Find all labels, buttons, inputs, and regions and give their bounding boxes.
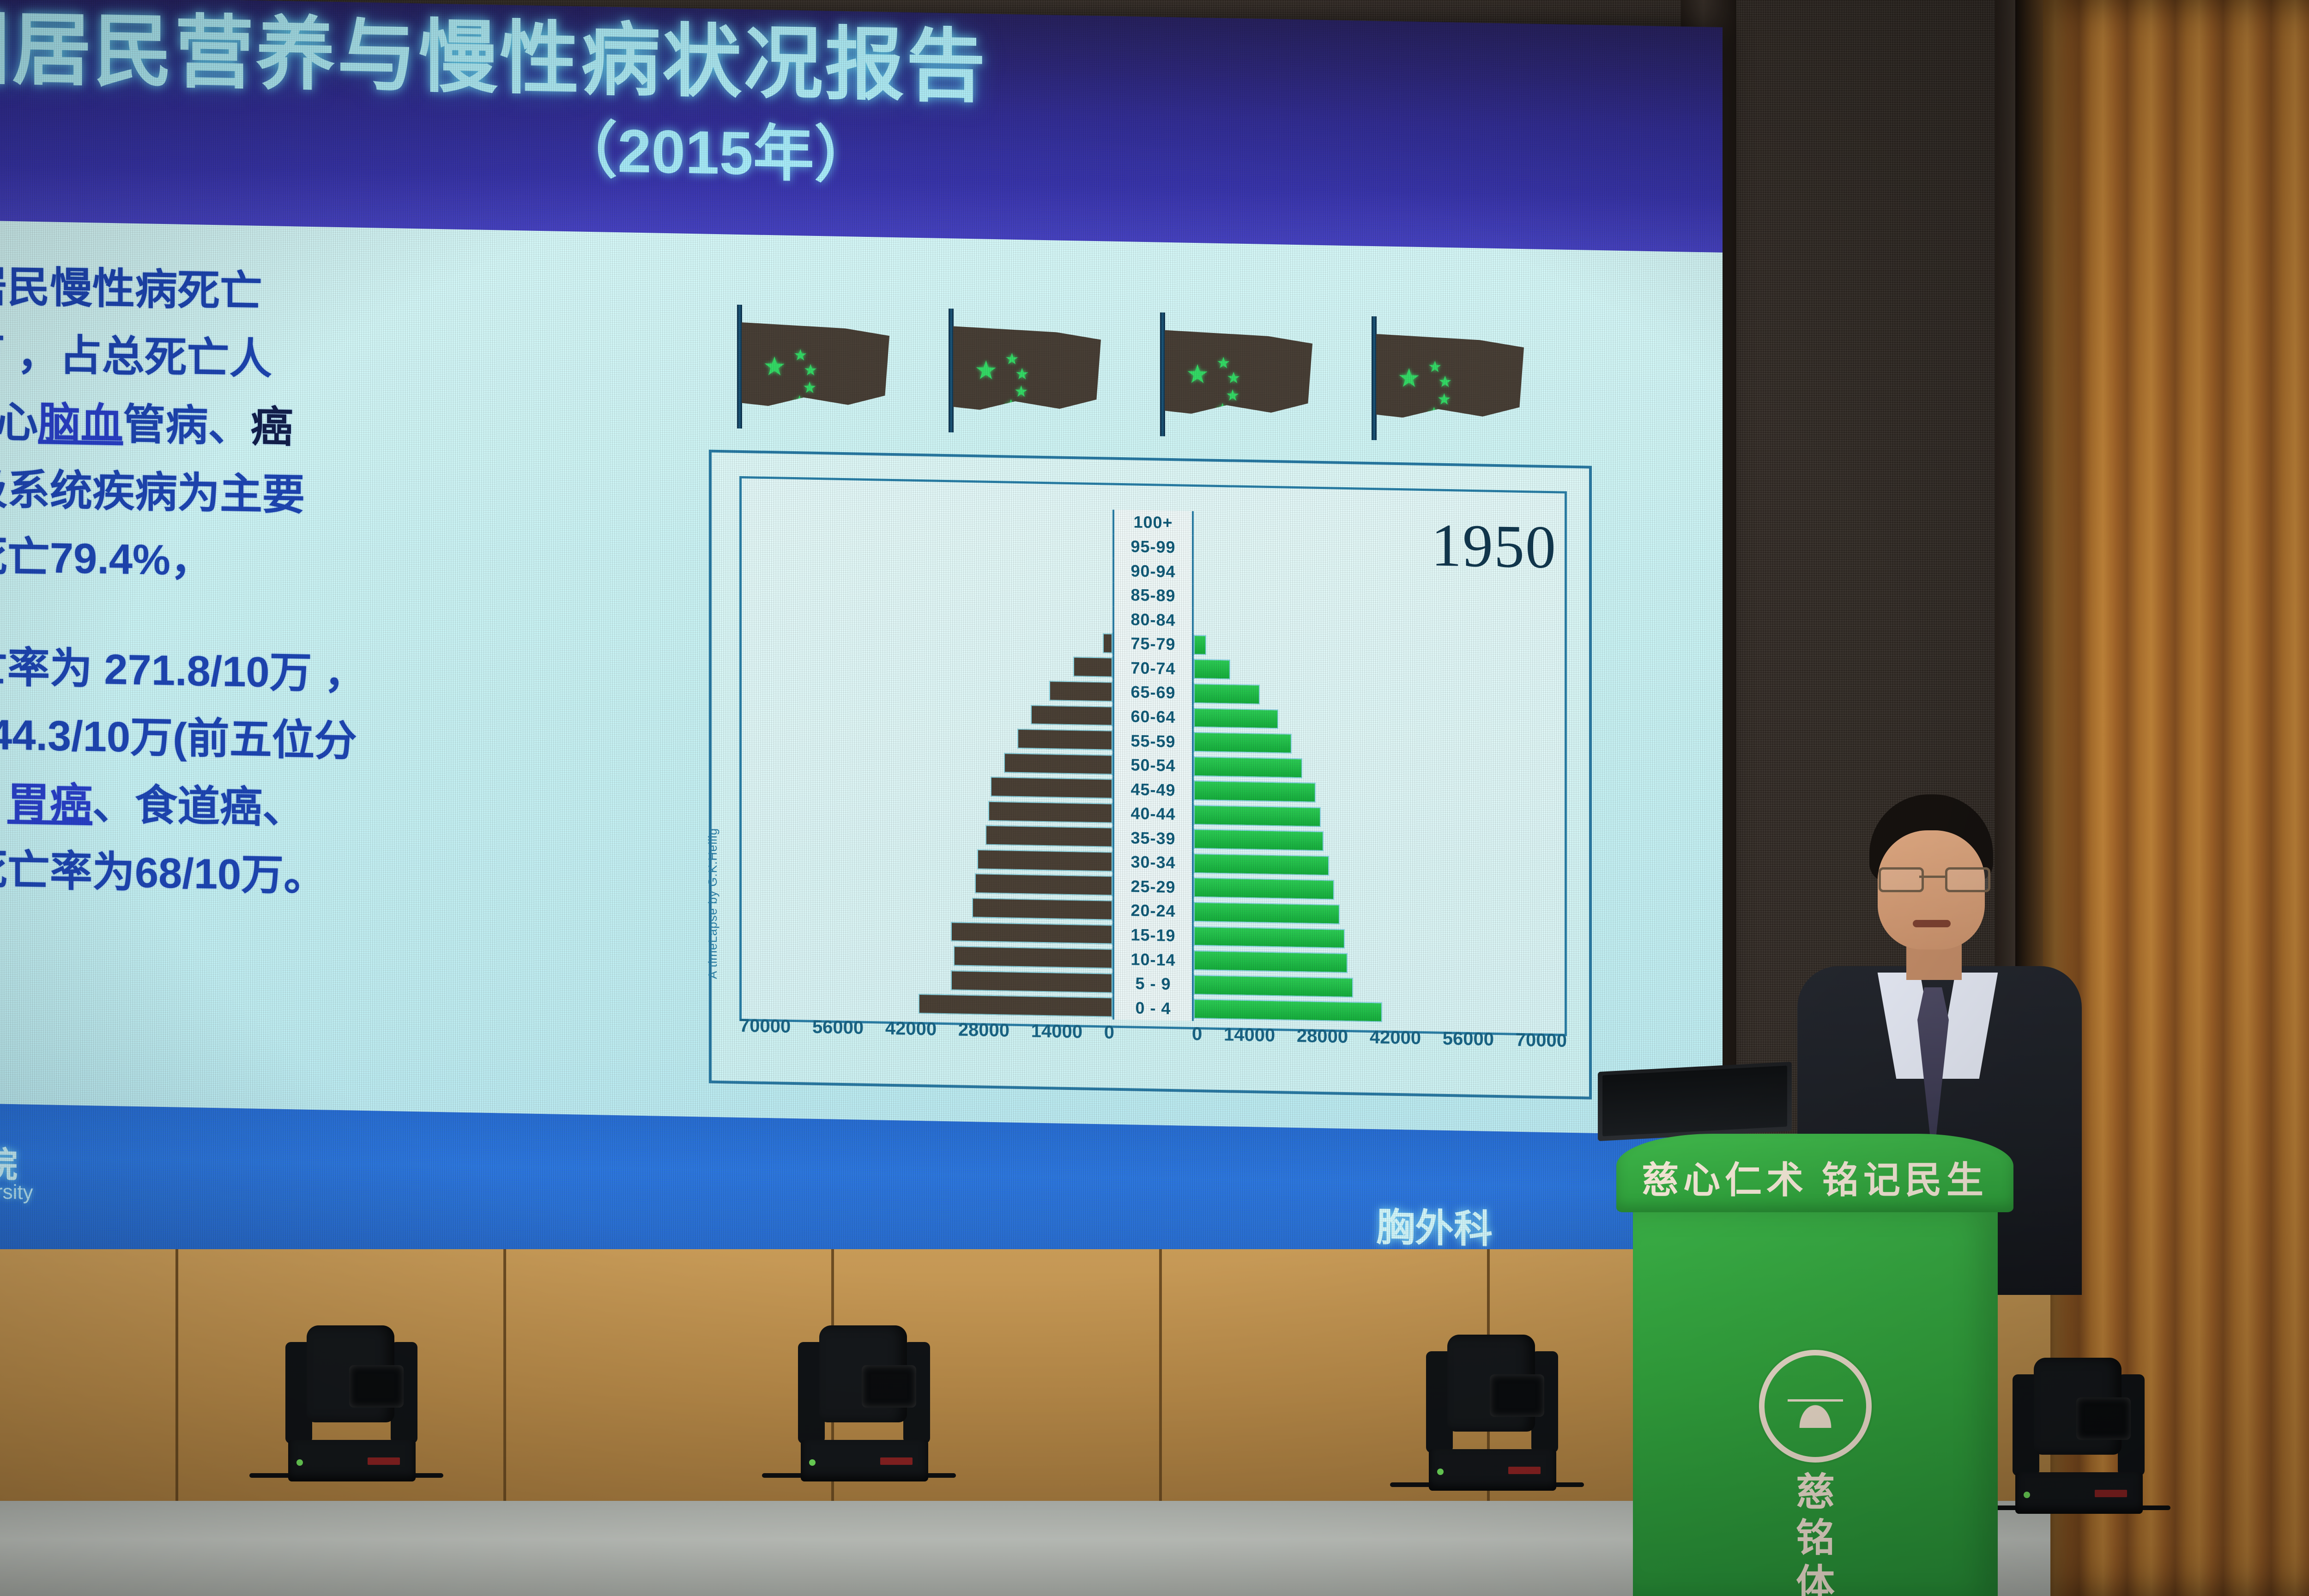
glasses-lens-left: [1879, 867, 1924, 892]
pyramid-bar-female: [1194, 659, 1230, 679]
flag-star-large: ★: [974, 357, 997, 383]
flag-star-small: ★: [1438, 374, 1452, 390]
stage-panel-seam: [175, 1249, 178, 1508]
pyramid-bar-male: [975, 874, 1112, 896]
moving-head-stage-light: [794, 1321, 933, 1515]
x-tick-label: 28000: [958, 1020, 1009, 1053]
china-flag-icon: ★ ★ ★ ★ ★: [734, 305, 901, 433]
pyramid-age-label: 55-59: [1112, 728, 1194, 754]
flag-pole: [737, 305, 742, 429]
podium-slogan: 慈心仁术 铭记民生: [1616, 1150, 2013, 1204]
x-axis-right-ticks: 01400028000420005600070000: [1192, 1024, 1567, 1063]
light-brand-label: [880, 1457, 913, 1465]
pyramid-age-label: 30-34: [1112, 850, 1194, 876]
flag-star-small: ★: [1427, 405, 1441, 421]
logo-leaf-mark: [1788, 1388, 1843, 1428]
pyramid-bar-female: [1194, 635, 1206, 655]
light-lens: [349, 1365, 404, 1408]
text-seg-3b: 管病、: [123, 401, 251, 450]
text-link-naoxue[interactable]: 脑血: [38, 399, 123, 448]
light-head: [307, 1325, 394, 1422]
text-line-3: 6%。 心脑血管病、癌: [0, 392, 637, 462]
flag-cloth: ★ ★ ★ ★ ★: [742, 322, 889, 408]
pyramid-bar-male: [954, 946, 1113, 969]
flag-star-large: ★: [1397, 365, 1420, 391]
china-flag-icon: ★ ★ ★ ★ ★: [1369, 316, 1535, 444]
text-line-4: 性呼吸系统疾病为主要: [0, 459, 637, 530]
flag-cloth: ★ ★ ★ ★ ★: [1165, 330, 1312, 416]
light-brand-label: [2095, 1490, 2127, 1497]
flag-star-small: ★: [1005, 351, 1019, 367]
x-axis-left-ticks: 70000560004200028000140000: [739, 1016, 1114, 1055]
x-tick-label: 70000: [739, 1016, 791, 1049]
pyramid-bar-male: [951, 970, 1112, 993]
pyramid-age-label: 50-54: [1112, 753, 1194, 779]
flag-star-small: ★: [1216, 355, 1230, 371]
flag-star-small: ★: [793, 347, 807, 363]
pyramid-bar-female: [1194, 950, 1348, 973]
x-tick-label: 70000: [1516, 1030, 1567, 1063]
chart-bar-rows: 0 - 45 - 910-1415-1920-2425-2930-3435-39…: [739, 503, 1567, 1028]
pyramid-bar-male: [919, 994, 1112, 1017]
pyramid-age-label: 10-14: [1112, 947, 1194, 973]
podium-body: 慈铭体: [1633, 1211, 1998, 1596]
flag-star-small: ★: [1215, 401, 1229, 417]
light-power-led: [809, 1459, 816, 1466]
x-tick-label: 0: [1192, 1024, 1202, 1056]
pyramid-bar-male: [1004, 753, 1112, 774]
pyramid-age-label: 15-19: [1112, 922, 1194, 948]
laptop-screen: [1602, 1066, 1787, 1137]
pyramid-bar-female: [1194, 780, 1316, 803]
flag-star-small: ★: [804, 362, 817, 378]
pyramid-bar-male: [972, 898, 1112, 920]
conference-hall-photo: 国居民营养与慢性病状况报告 （2015年） 全国居民慢性病死亡 8/10万 ，占…: [0, 0, 2309, 1596]
text-line-5: 占总死亡79.4%，: [0, 527, 637, 597]
x-tick-label: 28000: [1297, 1026, 1348, 1059]
flag-cloth: ★ ★ ★ ★ ★: [953, 326, 1101, 412]
x-tick-label: 42000: [885, 1018, 937, 1052]
pyramid-bar-female: [1194, 877, 1334, 900]
pyramid-bar-female: [1194, 999, 1382, 1022]
ciming-logo-icon: [1759, 1350, 1872, 1463]
pyramid-bar-female: [1194, 829, 1324, 851]
pyramid-age-label: 25-29: [1112, 874, 1194, 900]
text-line-8: 肝癌、胃癌、食道癌、: [0, 772, 637, 842]
podium-brand-vertical: 慈铭体: [1796, 1470, 1835, 1596]
china-flag-icon: ★ ★ ★ ★ ★: [1157, 312, 1324, 440]
pyramid-age-label: 40-44: [1112, 801, 1194, 827]
flag-star-small: ★: [1227, 370, 1240, 386]
pyramid-bar-female: [1194, 756, 1302, 778]
slide-footer-department: 胸外科: [1376, 1196, 1493, 1254]
stage-panel-seam: [503, 1249, 506, 1508]
text-link-weiai[interactable]: 胃癌: [7, 779, 92, 828]
pyramid-bar-female: [1194, 902, 1340, 925]
glasses-lens-right: [1945, 867, 1990, 892]
text-seg-3a: 6%。 心: [0, 397, 38, 447]
x-tick-label: 56000: [1443, 1028, 1494, 1062]
pyramid-age-label: 90-94: [1112, 558, 1194, 584]
pyramid-bar-female: [1194, 683, 1260, 705]
light-head: [819, 1325, 907, 1422]
flag-star-large: ★: [763, 353, 786, 380]
light-power-led: [296, 1459, 303, 1466]
pyramid-age-label: 70-74: [1112, 655, 1194, 681]
text-sep-1: 、: [0, 779, 7, 827]
flag-pole: [949, 308, 954, 432]
flag-pole: [1160, 313, 1165, 436]
light-brand-label: [368, 1457, 400, 1465]
text-line-7: 率为144.3/10万(前五位分: [0, 705, 637, 775]
text-sep-2: 、: [92, 781, 135, 829]
pyramid-bar-female: [1194, 853, 1329, 876]
pyramid-bar-male: [1031, 705, 1112, 726]
glasses-bridge: [1919, 876, 1945, 878]
pyramid-bar-male: [1017, 729, 1112, 750]
presenter-laptop: [1598, 1062, 1792, 1141]
pyramid-bar-male: [988, 801, 1112, 823]
x-tick-label: 0: [1104, 1022, 1114, 1054]
pyramid-bar-female: [1194, 732, 1292, 754]
pyramid-bar-male: [991, 777, 1112, 799]
pyramid-bar-female: [1194, 707, 1278, 729]
pyramid-age-label: 20-24: [1112, 898, 1194, 924]
light-brand-label: [1508, 1467, 1541, 1474]
eyeglasses-icon: [1878, 867, 1987, 888]
podium: 慈铭体 慈心仁术 铭记民生: [1616, 1134, 2013, 1596]
pyramid-bar-male: [1103, 633, 1112, 653]
flag-star-small: ★: [1004, 397, 1018, 413]
flag-star-small: ★: [792, 393, 806, 410]
slide-text-column: 全国居民慢性病死亡 8/10万 ，占总死亡人 6%。 心脑血管病、癌 性呼吸系统…: [0, 257, 637, 921]
flag-cloth: ★ ★ ★ ★ ★: [1376, 334, 1524, 420]
pyramid-age-label: 100+: [1112, 510, 1194, 536]
pyramid-bar-male: [977, 849, 1112, 871]
pyramid-bar-male: [951, 922, 1112, 944]
pyramid-bar-female: [1194, 805, 1321, 827]
flag-star-large: ★: [1186, 361, 1209, 387]
projection-screen: 国居民营养与慢性病状况报告 （2015年） 全国居民慢性病死亡 8/10万 ，占…: [0, 0, 1723, 1283]
pyramid-bar-male: [1049, 681, 1112, 701]
pyramid-age-label: 0 - 4: [1112, 995, 1194, 1021]
light-head: [2034, 1358, 2122, 1455]
pyramid-age-label: 65-69: [1112, 680, 1194, 706]
pyramid-bar-female: [1194, 975, 1353, 997]
flag-star-small: ★: [1428, 359, 1442, 375]
text-line-9: 疾病死亡率为68/10万。: [0, 840, 637, 910]
light-lens: [862, 1365, 916, 1408]
presenter-mouth: [1913, 920, 1951, 927]
flag-star-small: ★: [1015, 366, 1029, 382]
light-power-led: [1437, 1469, 1444, 1475]
stage-panel-seam: [1159, 1249, 1162, 1508]
pyramid-bar-male: [985, 825, 1112, 847]
x-tick-label: 14000: [1224, 1024, 1275, 1058]
moving-head-stage-light: [282, 1321, 420, 1515]
pyramid-bar-female: [1194, 926, 1345, 949]
pyramid-age-label: 35-39: [1112, 825, 1194, 851]
chart-credit-label: A timeLapse by G.K.Heilig: [706, 828, 720, 979]
pyramid-age-label: 95-99: [1112, 534, 1194, 560]
text-line-2: 8/10万 ，占总死亡人: [0, 324, 637, 394]
population-pyramid-chart: 1950 A timeLapse by G.K.Heilig 0 - 45 - …: [709, 450, 1592, 1100]
text-seg-3-bold: 癌: [251, 403, 293, 451]
flag-pole: [1372, 316, 1377, 440]
x-tick-label: 14000: [1031, 1021, 1082, 1054]
pyramid-age-label: 45-49: [1112, 777, 1194, 803]
x-tick-label: 56000: [812, 1017, 864, 1050]
light-lens: [1490, 1374, 1544, 1417]
china-flag-icon: ★ ★ ★ ★ ★: [946, 308, 1112, 436]
moving-head-stage-light: [1422, 1330, 1561, 1524]
text-seg-8c: 食道癌、: [135, 781, 305, 832]
light-lens: [2076, 1397, 2131, 1440]
pyramid-age-label: 60-64: [1112, 704, 1194, 730]
pyramid-age-label: 80-84: [1112, 607, 1194, 633]
moving-head-stage-light: [2009, 1353, 2147, 1547]
x-tick-label: 42000: [1370, 1027, 1421, 1060]
pyramid-bar-male: [1073, 657, 1112, 677]
light-head: [1447, 1335, 1535, 1432]
pyramid-age-label: 85-89: [1112, 583, 1194, 609]
flag-row: ★ ★ ★ ★ ★ ★ ★ ★ ★ ★: [734, 305, 1612, 450]
axis-center-spacer: [1114, 1022, 1192, 1056]
pyramid-age-label: 5 - 9: [1112, 971, 1194, 997]
pyramid-age-label: 75-79: [1112, 631, 1194, 657]
light-power-led: [2024, 1492, 2030, 1498]
